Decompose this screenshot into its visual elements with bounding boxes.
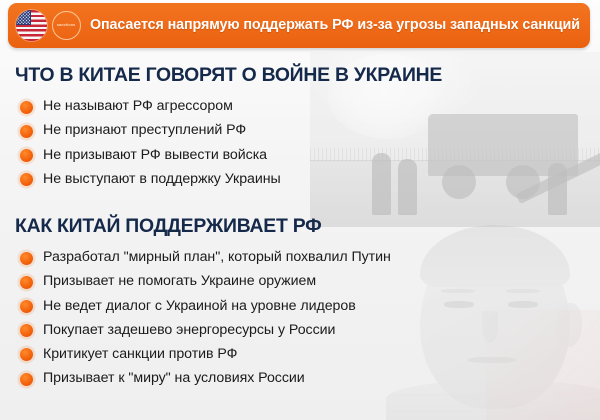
photo-howitzer: [428, 114, 578, 176]
portrait-nose: [482, 311, 498, 343]
list-item-label: Призывает к "миру" на условиях России: [43, 371, 305, 387]
list-item: Не ведет диалог с Украиной на уровне лид…: [20, 294, 391, 318]
list-item-label: Не признают преступлений РФ: [43, 123, 246, 139]
list-item: Не называют РФ агрессором: [20, 95, 281, 119]
photo-horizon: [310, 160, 600, 161]
photo-wheel-left: [442, 165, 476, 199]
bullet-dot-icon: [20, 373, 33, 386]
list-item-label: Не призывают РФ вывести войска: [43, 148, 267, 164]
portrait-eye-left: [444, 301, 474, 308]
photo-treeline: [310, 148, 600, 162]
portrait-eye-right: [508, 301, 538, 308]
bullet-dot-icon: [20, 173, 33, 186]
bullet-dot-icon: [20, 300, 33, 313]
bullet-dot-icon: [20, 125, 33, 138]
portrait-shoulder: [386, 380, 600, 420]
list-item-label: Не выступают в поддержку Украины: [43, 172, 281, 188]
list-item-label: Не называют РФ агрессором: [43, 99, 233, 115]
photo-gun-barrel: [516, 143, 600, 205]
list-item: Покупает задешево энергоресурсы у России: [20, 319, 391, 343]
bullet-list-china-says: Не называют РФ агрессором Не признают пр…: [20, 95, 281, 192]
list-item: Призывает к "миру" на условиях России: [20, 367, 391, 391]
xi-jinping-portrait: [396, 215, 600, 420]
top-banner: sanctions Опасается напрямую поддержать …: [8, 3, 590, 48]
infographic-canvas: sanctions Опасается напрямую поддержать …: [0, 0, 600, 420]
list-item: Не призывают РФ вывести войска: [20, 143, 281, 167]
list-item: Критикует санкции против РФ: [20, 343, 391, 367]
portrait-ear: [556, 303, 582, 347]
list-item-label: Призывает не помогать Украине оружием: [43, 274, 316, 290]
bullet-dot-icon: [20, 276, 33, 289]
portrait-brow-right: [506, 289, 540, 293]
list-item-label: Не ведет диалог с Украиной на уровне лид…: [43, 299, 356, 315]
content-area: ЧТО В КИТАЕ ГОВОРЯТ О ВОЙНЕ В УКРАИНЕ Не…: [0, 0, 600, 420]
bullet-dot-icon: [20, 324, 33, 337]
portrait-head: [420, 231, 570, 409]
list-item: Призывает не помогать Украине оружием: [20, 270, 391, 294]
list-item-label: Покупает задешево энергоресурсы у России: [43, 323, 335, 339]
section-heading-china-says: ЧТО В КИТАЕ ГОВОРЯТ О ВОЙНЕ В УКРАИНЕ: [15, 64, 442, 87]
portrait-brow-left: [441, 289, 475, 293]
bullet-dot-icon: [20, 252, 33, 265]
bullet-dot-icon: [20, 348, 33, 361]
list-item: Разработал "мирный план", который похвал…: [20, 246, 391, 270]
list-item: Не признают преступлений РФ: [20, 119, 281, 143]
photo-soldier-middle: [398, 159, 417, 215]
bullet-dot-icon: [20, 149, 33, 162]
section-heading-china-helps: КАК КИТАЙ ПОДДЕРЖИВАЕТ РФ: [15, 215, 321, 238]
photo-soldier-right: [548, 163, 567, 215]
banner-headline: Опасается напрямую поддержать РФ из-за у…: [90, 17, 580, 34]
bullet-dot-icon: [20, 101, 33, 114]
photo-ground: [310, 161, 600, 227]
portrait-mouth: [468, 357, 516, 363]
portrait-hair: [420, 225, 570, 287]
usa-flag-icon: [16, 10, 47, 41]
photo-wheel-right: [506, 165, 540, 199]
portrait-flag-wash: [486, 310, 600, 420]
sanctions-badge-label: sanctions: [57, 23, 76, 27]
list-item-label: Критикует санкции против РФ: [43, 347, 237, 363]
list-item-label: Разработал "мирный план", который похвал…: [43, 250, 391, 266]
photo-soldier-left: [372, 153, 391, 215]
banner-icon-group: sanctions: [16, 10, 81, 41]
sanctions-badge-icon: sanctions: [52, 11, 81, 40]
bullet-list-china-helps: Разработал "мирный план", который похвал…: [20, 246, 391, 391]
flag-canton: [16, 10, 31, 25]
list-item: Не выступают в поддержку Украины: [20, 168, 281, 192]
